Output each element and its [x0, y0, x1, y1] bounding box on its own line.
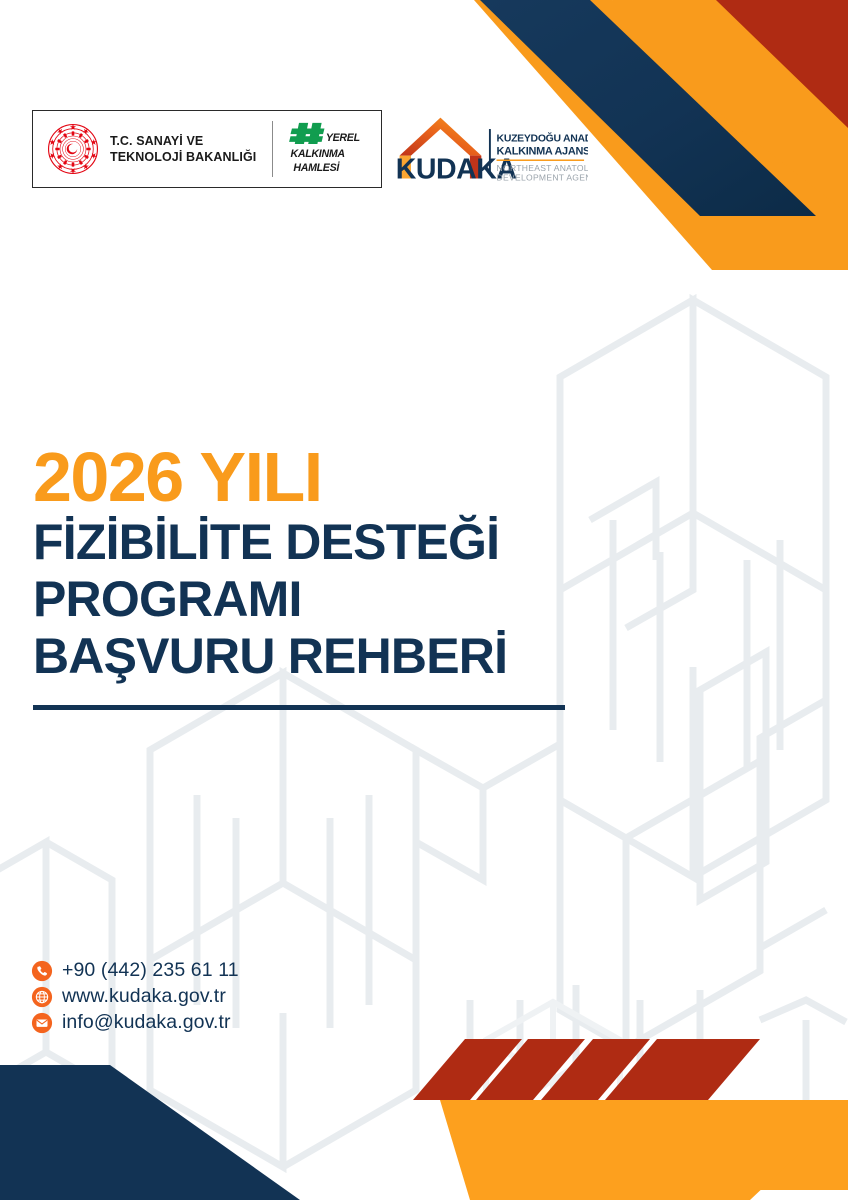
title-line-2: PROGRAMI: [33, 571, 633, 628]
title-line-1: FİZİBİLİTE DESTEĞİ: [33, 514, 633, 571]
title-block: 2026 YILI FİZİBİLİTE DESTEĞİ PROGRAMI BA…: [33, 443, 633, 710]
phone-icon: [31, 960, 53, 982]
globe-icon: [31, 986, 53, 1008]
kalkinma-label: KALKINMA: [291, 148, 345, 160]
title-line-3: BAŞVURU REHBERİ: [33, 628, 633, 685]
phone-text[interactable]: +90 (442) 235 61 11: [62, 961, 239, 981]
navy-bottom-block: [0, 1065, 300, 1200]
kudaka-agency-logo: KUDAKA KUZEYDOĞU ANADOLU KALKINMA AJANSI…: [388, 110, 588, 188]
kudaka-roof-mark: [400, 118, 482, 156]
contact-row-phone: +90 (442) 235 61 11: [31, 960, 239, 982]
orange-diagonal-band: [612, 0, 848, 270]
contact-row-email: info@kudaka.gov.tr: [31, 1012, 239, 1034]
contact-row-website: www.kudaka.gov.tr: [31, 986, 239, 1008]
agency-en-line2: DEVELOPMENT AGENCY: [497, 172, 588, 182]
dark-red-corner-triangle: [716, 0, 848, 128]
envelope-icon: [31, 1012, 53, 1034]
orange-trapezoid: [500, 1100, 848, 1190]
agency-tr-line2: KALKINMA AJANSI: [497, 146, 588, 158]
yerel-label: YEREL: [326, 132, 360, 144]
title-year: 2026 YILI: [33, 443, 633, 512]
ministry-logo-box: T.C. SANAYİ VE TEKNOLOJİ BAKANLIĞI YEREL…: [32, 110, 382, 188]
agency-tr-line1: KUZEYDOĞU ANADOLU: [497, 131, 588, 144]
hamlesi-label: HAMLESİ: [294, 161, 341, 174]
title-underline-rule: [33, 705, 565, 710]
contact-info: +90 (442) 235 61 11 www.kudaka.gov.tr: [31, 960, 239, 1038]
logo-divider: [272, 121, 273, 177]
tc-ministry-emblem-icon: [47, 123, 99, 175]
yerel-kalkinma-hamlesi-logo-icon: YEREL KALKINMA HAMLESİ: [289, 120, 367, 178]
email-text[interactable]: info@kudaka.gov.tr: [62, 1013, 231, 1033]
red-stripe-group: [413, 1039, 760, 1100]
website-text[interactable]: www.kudaka.gov.tr: [62, 987, 226, 1007]
logo-bar: T.C. SANAYİ VE TEKNOLOJİ BAKANLIĞI YEREL…: [32, 110, 588, 188]
cover-page: T.C. SANAYİ VE TEKNOLOJİ BAKANLIĞI YEREL…: [0, 0, 848, 1200]
ministry-name-text: T.C. SANAYİ VE TEKNOLOJİ BAKANLIĞI: [110, 133, 256, 165]
agency-en-line1: NORTHEAST ANATOLIA: [497, 163, 588, 173]
